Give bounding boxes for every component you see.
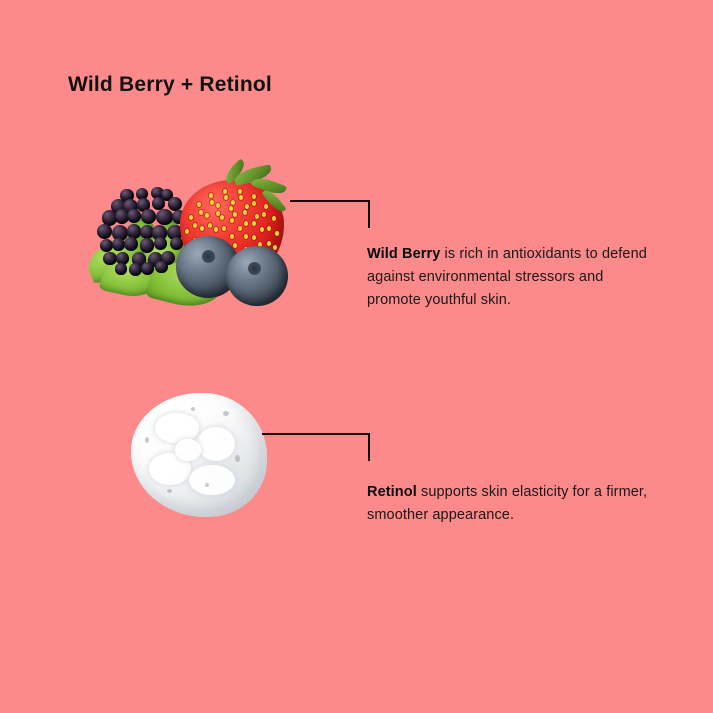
- strawberry-seed: [230, 218, 234, 223]
- cream-speck: [145, 437, 149, 443]
- connector-horizontal-segment: [262, 433, 370, 435]
- cream-speck: [235, 455, 240, 462]
- strawberry-seed: [243, 210, 247, 215]
- blackberry-drupelet: [112, 238, 125, 251]
- page-title: Wild Berry + Retinol: [68, 73, 272, 97]
- strawberry-seed: [229, 206, 233, 211]
- strawberry-seed: [238, 226, 242, 231]
- retinol-description: Retinol supports skin elasticity for a f…: [367, 481, 652, 527]
- strawberry-seed: [252, 221, 256, 226]
- strawberry-seed: [252, 235, 256, 240]
- blueberry-icon: [226, 246, 288, 306]
- blackberry-drupelet: [141, 262, 154, 275]
- cream-swirl: [197, 427, 235, 461]
- strawberry-seed: [216, 211, 220, 216]
- strawberry-seed: [272, 216, 276, 221]
- strawberry-seed: [260, 227, 264, 232]
- cream-speck: [205, 483, 209, 487]
- wild-berry-lead-label: Wild Berry: [367, 246, 440, 262]
- blackberry-drupelet: [127, 209, 141, 223]
- blackberry-drupelet: [103, 252, 116, 265]
- strawberry-seed: [209, 193, 213, 198]
- strawberry-seed: [193, 223, 197, 228]
- connector-vertical-segment: [368, 200, 370, 228]
- strawberry-seed: [223, 189, 227, 194]
- strawberry-seed: [238, 189, 242, 194]
- strawberry-seed: [222, 226, 226, 231]
- strawberry-seed: [231, 200, 235, 205]
- strawberry-seed: [214, 227, 218, 232]
- strawberry-seed: [244, 234, 248, 239]
- ingredient-callout-card: Wild Berry + Retinol Wild Berry is ric: [0, 0, 713, 713]
- strawberry-seed: [233, 212, 237, 217]
- blackberry-drupelet: [156, 209, 172, 225]
- retinol-cream-blob-image: [131, 393, 267, 517]
- strawberry-seed: [244, 221, 248, 226]
- cream-speck: [191, 407, 195, 411]
- blackberry-drupelet: [141, 209, 157, 225]
- blackberry-drupelet: [129, 263, 142, 276]
- cream-swirl: [155, 413, 199, 443]
- strawberry-seed: [245, 204, 249, 209]
- connector-vertical-segment: [368, 433, 370, 461]
- strawberry-seed: [224, 195, 228, 200]
- cream-swirl: [175, 439, 201, 461]
- blackberry-drupelet: [155, 261, 167, 273]
- strawberry-seed: [252, 194, 256, 199]
- strawberry-seed: [197, 202, 201, 207]
- connector-horizontal-segment: [290, 200, 370, 202]
- strawberry-seed: [262, 212, 266, 217]
- strawberry-seed: [210, 200, 214, 205]
- blueberry-crown: [248, 262, 261, 275]
- strawberry-seed: [200, 226, 204, 231]
- strawberry-seed: [199, 210, 203, 215]
- strawberry-seed: [273, 245, 277, 250]
- strawberry-seed: [255, 214, 259, 219]
- strawberry-seed: [267, 226, 271, 231]
- strawberry-seed: [205, 213, 209, 218]
- blackberry-drupelet: [154, 237, 167, 250]
- cream-speck: [167, 489, 172, 493]
- strawberry-seed: [230, 234, 234, 239]
- strawberry-seed: [239, 195, 243, 200]
- strawberry-seed: [252, 201, 256, 206]
- wild-berry-description: Wild Berry is rich in antioxidants to de…: [367, 243, 652, 312]
- strawberry-seed: [233, 243, 237, 248]
- blackberry-drupelet: [97, 224, 112, 239]
- retinol-lead-label: Retinol: [367, 484, 417, 500]
- strawberry-seed: [264, 204, 268, 209]
- strawberry-seed: [275, 231, 279, 236]
- blackberry-drupelet: [140, 238, 155, 253]
- strawberry-seed: [216, 203, 220, 208]
- blackberry-drupelet: [115, 263, 126, 274]
- wild-berry-cluster-image: [84, 162, 302, 334]
- strawberry-seed: [267, 241, 271, 246]
- strawberry-seed: [208, 223, 212, 228]
- cream-swirl: [189, 465, 235, 495]
- strawberry-seed: [189, 215, 193, 220]
- strawberry-seed: [220, 215, 224, 220]
- strawberry-seed: [185, 229, 189, 234]
- cream-speck: [223, 411, 229, 416]
- blueberry-crown: [202, 250, 215, 263]
- blackberry-drupelet: [124, 237, 138, 251]
